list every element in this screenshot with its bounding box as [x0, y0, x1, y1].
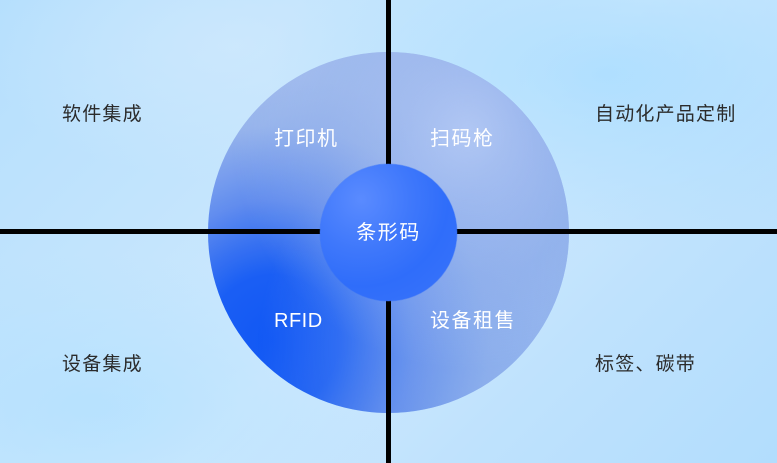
quadrant-label-bottom-left: 设备集成 [62, 355, 143, 374]
ring-segment-label-bottom-right[interactable]: 设备租售 [430, 311, 516, 331]
diagram-canvas: 条形码 打印机 扫码枪 RFID 设备租售 软件集成 自动化产品定制 设备集成 … [0, 0, 777, 463]
quadrant-label-bottom-right: 标签、碳带 [595, 355, 696, 374]
ring-segment-label-top-left[interactable]: 打印机 [274, 129, 339, 149]
ring-segment-label-top-right[interactable]: 扫码枪 [430, 129, 495, 149]
quadrant-label-top-left: 软件集成 [62, 105, 143, 124]
quadrant-label-top-right: 自动化产品定制 [595, 105, 736, 124]
core-circle-label: 条形码 [356, 223, 421, 243]
core-circle[interactable]: 条形码 [320, 164, 457, 301]
ring-segment-label-bottom-left[interactable]: RFID [274, 311, 323, 331]
